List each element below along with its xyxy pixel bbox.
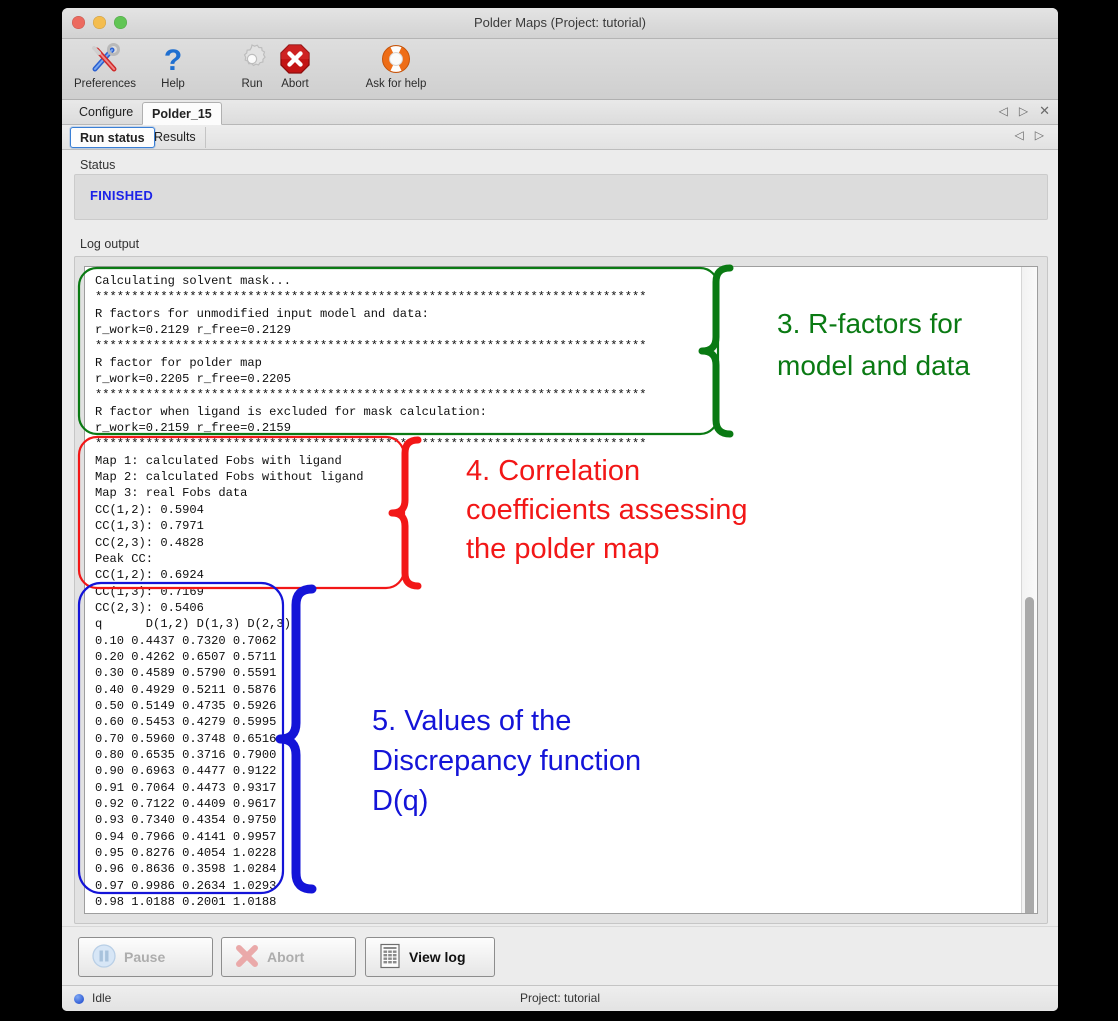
window-title: Polder Maps (Project: tutorial): [62, 15, 1058, 30]
status-value: FINISHED: [90, 188, 153, 203]
action-button-bar: Pause Abort: [62, 926, 1058, 987]
prev-arrow-icon[interactable]: ◁: [999, 104, 1008, 118]
status-bar-project: Project: tutorial: [62, 991, 1058, 1005]
x-cross-icon: [234, 943, 260, 972]
tab-run-status[interactable]: Run status: [70, 127, 155, 148]
abort-button[interactable]: Abort: [221, 937, 356, 977]
toolbar-label-ask-for-help: Ask for help: [357, 78, 435, 90]
status-bar: Idle Project: tutorial: [62, 985, 1058, 1011]
svg-text:?: ?: [164, 44, 182, 76]
tab-configure[interactable]: Configure: [70, 102, 142, 123]
pause-button-label: Pause: [124, 949, 165, 965]
view-log-button[interactable]: View log: [365, 937, 495, 977]
log-output-label: Log output: [80, 237, 139, 251]
lifebuoy-icon: [357, 41, 435, 77]
tools-icon: [66, 41, 144, 77]
log-output-panel: Calculating solvent mask... ************…: [74, 256, 1048, 924]
toolbar: Preferences ? Help Run: [62, 39, 1058, 100]
abort-button-label: Abort: [267, 949, 304, 965]
next-arrow-icon[interactable]: ▷: [1019, 104, 1028, 118]
question-mark-icon: ?: [134, 41, 212, 77]
toolbar-button-preferences[interactable]: Preferences: [66, 41, 144, 90]
toolbar-button-help[interactable]: ? Help: [134, 41, 212, 90]
prev-arrow-icon[interactable]: ◁: [1015, 128, 1024, 142]
next-arrow-icon[interactable]: ▷: [1035, 128, 1044, 142]
log-text-area[interactable]: Calculating solvent mask... ************…: [84, 266, 1038, 914]
title-bar: Polder Maps (Project: tutorial): [62, 8, 1058, 39]
secondary-tab-nav: ◁ ▷: [1015, 128, 1044, 142]
log-text-content: Calculating solvent mask... ************…: [95, 273, 1019, 914]
status-box: FINISHED: [74, 174, 1048, 220]
secondary-tab-bar: Run status Results ◁ ▷: [62, 125, 1058, 150]
toolbar-label-preferences: Preferences: [66, 78, 144, 90]
pause-button[interactable]: Pause: [78, 937, 213, 977]
close-x-icon[interactable]: ✕: [1039, 103, 1050, 119]
log-scrollbar[interactable]: [1021, 267, 1037, 913]
view-log-button-label: View log: [409, 949, 466, 965]
application-window: Polder Maps (Project: tutorial) Preferen…: [62, 8, 1058, 1011]
log-scrollbar-thumb[interactable]: [1025, 597, 1034, 914]
tab-results[interactable]: Results: [148, 127, 206, 148]
primary-tab-bar: Configure Polder_15 ◁ ▷ ✕: [62, 100, 1058, 125]
status-section-label: Status: [80, 158, 115, 172]
toolbar-label-abort: Abort: [256, 78, 334, 90]
document-grid-icon: [378, 943, 402, 972]
toolbar-label-help: Help: [134, 78, 212, 90]
toolbar-button-ask-for-help[interactable]: Ask for help: [357, 41, 435, 90]
tab-polder-15[interactable]: Polder_15: [142, 102, 222, 125]
pause-icon: [91, 943, 117, 972]
stop-x-icon: [256, 41, 334, 77]
primary-tab-nav: ◁ ▷ ✕: [999, 103, 1050, 119]
toolbar-button-abort[interactable]: Abort: [256, 41, 334, 90]
